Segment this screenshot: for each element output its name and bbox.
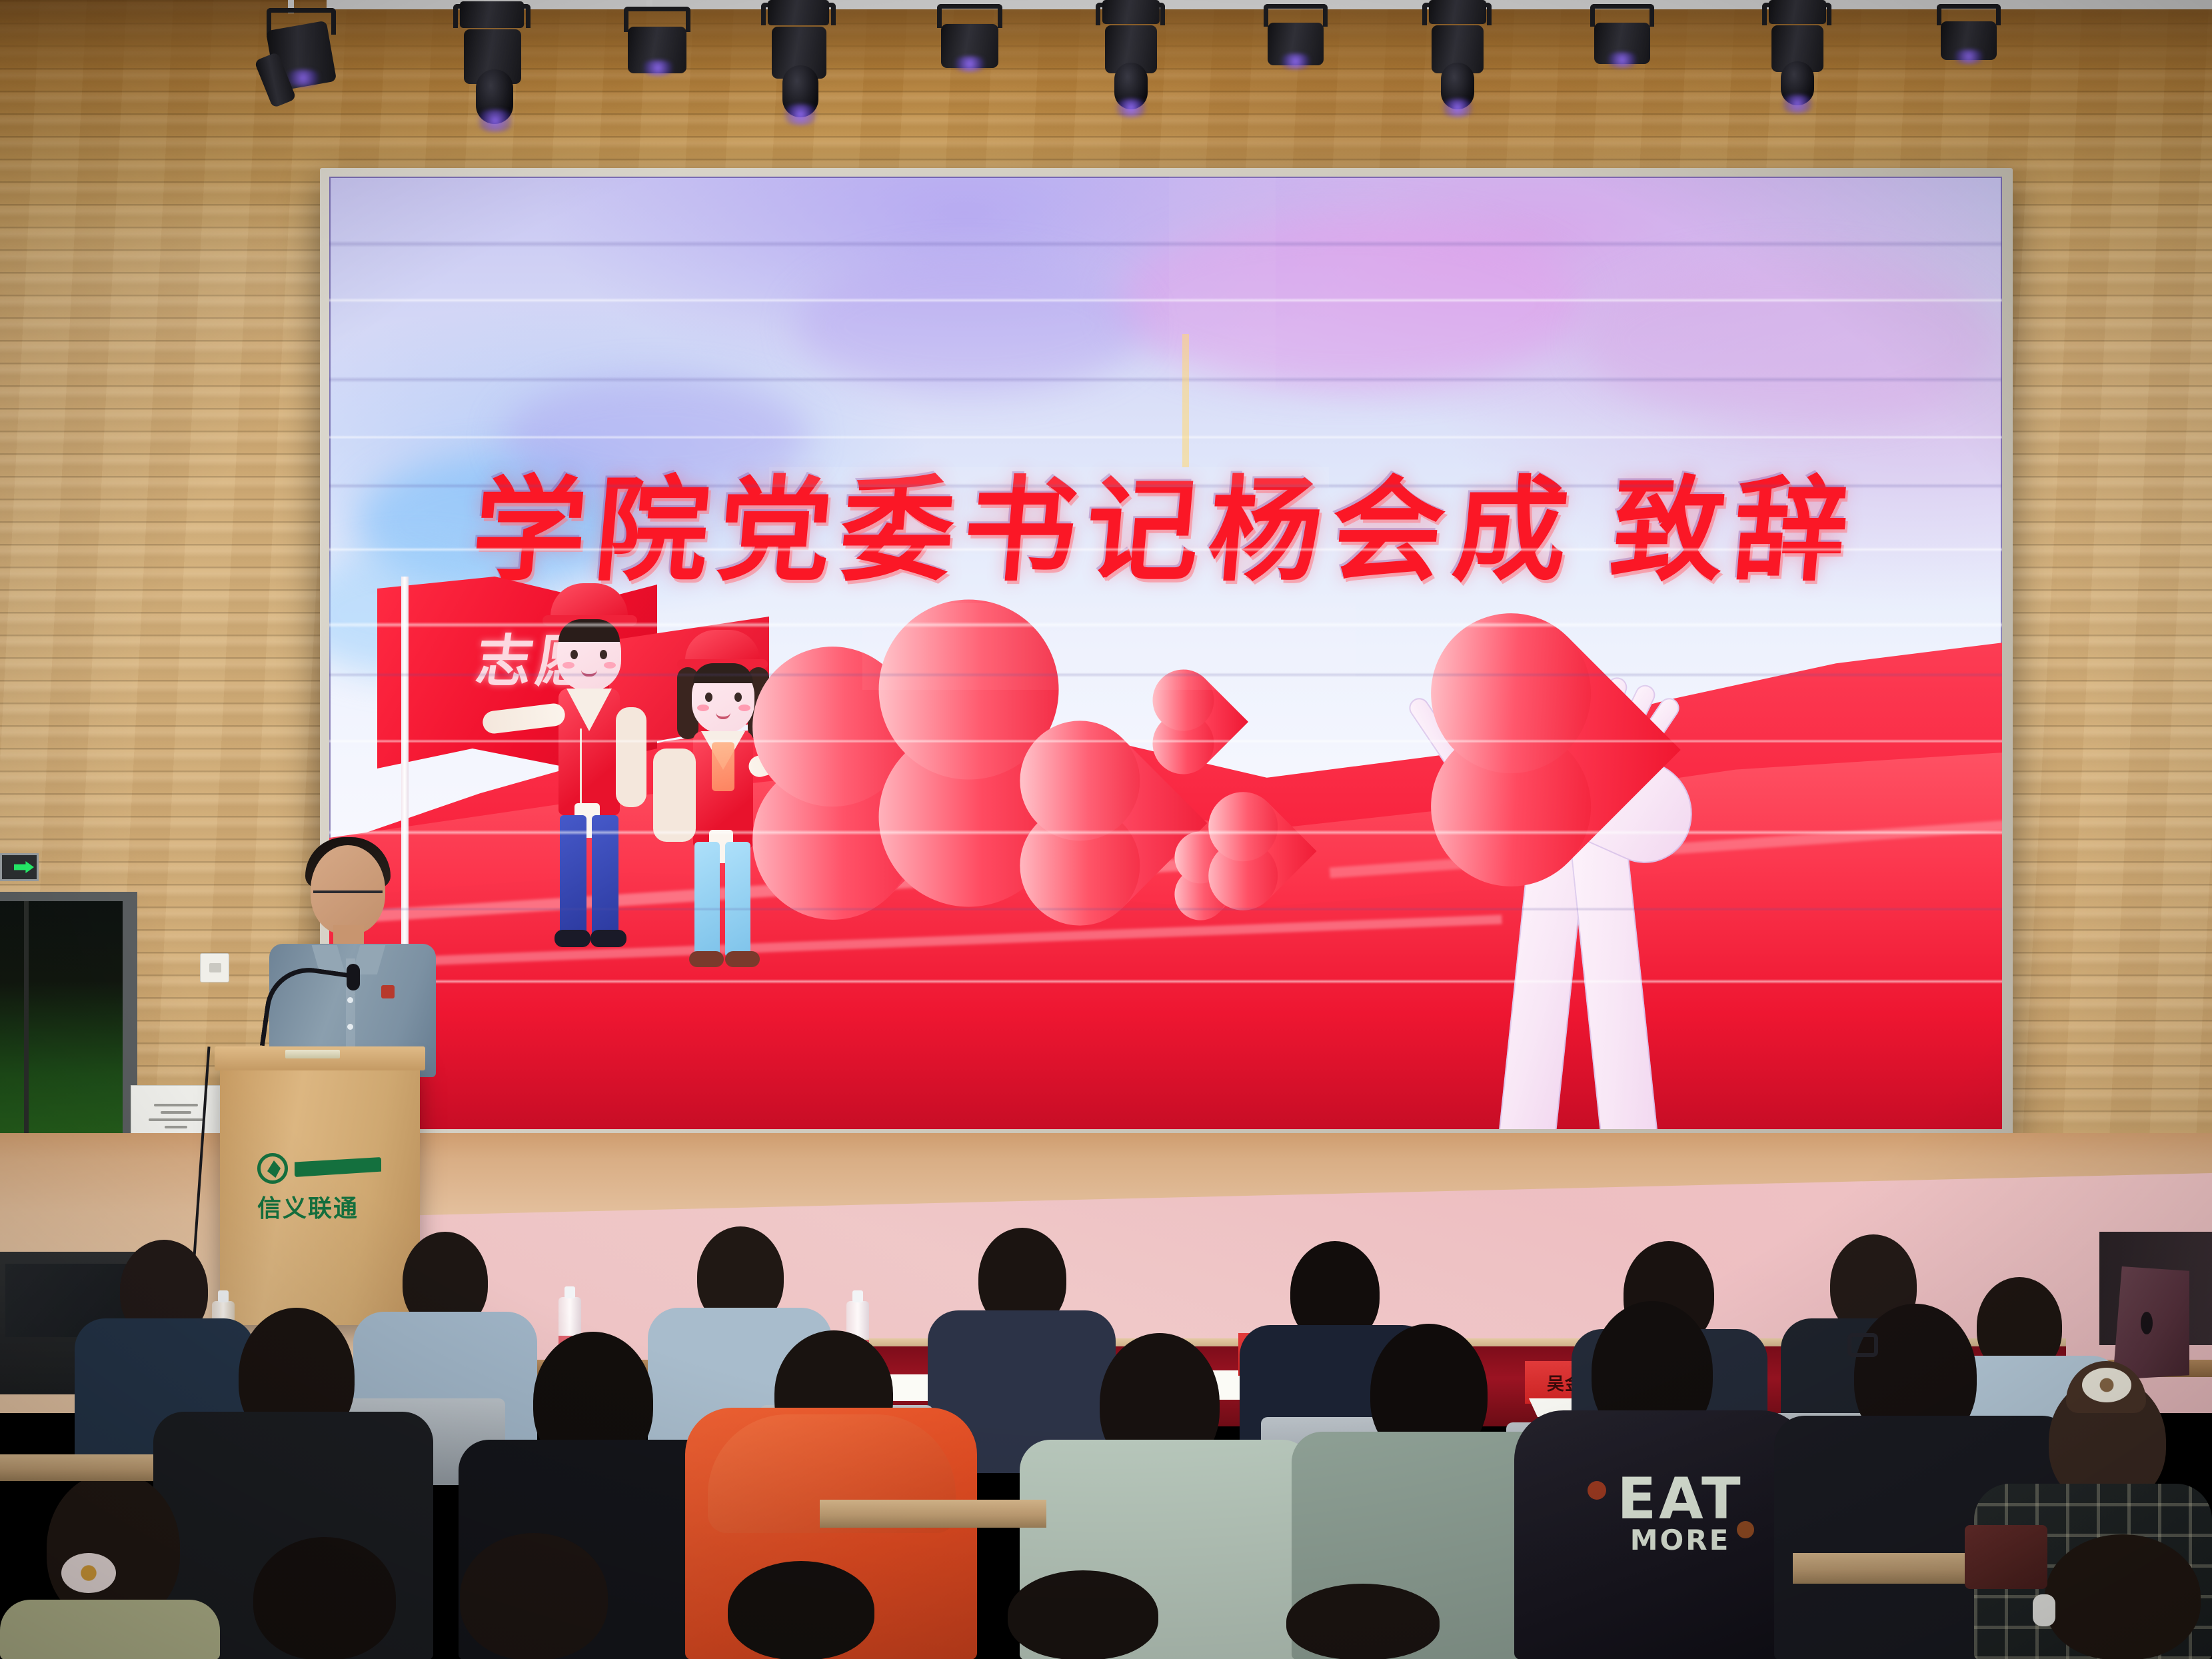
- heart-tiny-floating: [1162, 679, 1248, 765]
- cartoon-volunteer-boy: [523, 583, 656, 1036]
- party-emblem-badge: [381, 985, 395, 998]
- led-scanline: [329, 241, 2002, 247]
- scrunchie: [61, 1553, 116, 1593]
- av-speaker-port: [2141, 1312, 2153, 1334]
- podium-nameplate: [285, 1050, 340, 1058]
- hoodie-patch-left-icon: [1588, 1481, 1606, 1500]
- led-glitch-block: [1182, 334, 1189, 467]
- audience-head-front: [460, 1533, 608, 1659]
- audience-head-front: [728, 1561, 874, 1659]
- hoodie-patch-right-icon: [1737, 1521, 1754, 1538]
- eat-more-print: EAT MORE: [1584, 1469, 1777, 1557]
- auditorium-photo: 学院党委书记杨会成致辞 志愿: [0, 0, 2212, 1659]
- audience-head-front: [2045, 1534, 2201, 1659]
- speaker-glasses: [313, 890, 383, 893]
- screen-title: 学院党委书记杨会成致辞: [329, 439, 2002, 603]
- glasses: [1847, 1333, 1878, 1357]
- led-screen-display: 学院党委书记杨会成致辞 志愿: [329, 177, 2002, 1129]
- bag-on-desk: [1965, 1525, 2047, 1589]
- microphone-capsule: [347, 964, 360, 990]
- led-glitch-block: [769, 467, 1329, 487]
- cloud-blob: [796, 257, 1142, 397]
- wall-outlet[interactable]: [200, 953, 229, 982]
- hoodie-text-line1: EAT: [1617, 1472, 1743, 1527]
- podium-logo: 信义联通: [257, 1148, 384, 1218]
- earbud: [2033, 1594, 2055, 1626]
- company-mark-icon: [257, 1153, 288, 1184]
- emergency-exit-sign: [0, 853, 39, 881]
- exit-arrow-icon: [14, 861, 34, 873]
- screen-title-suffix: 致辞: [1606, 469, 1861, 595]
- company-name-cn: 信义联通: [257, 1189, 359, 1224]
- flower-scrunchie: [2082, 1368, 2131, 1402]
- audience-head-front: [253, 1537, 396, 1659]
- audience-head-front: [1008, 1570, 1158, 1659]
- speaker-head: [311, 845, 385, 934]
- desk-row: [0, 1454, 153, 1481]
- cloud-blob: [1582, 257, 1995, 423]
- audience-body-front: [0, 1600, 220, 1659]
- hoodie-text-line2: MORE: [1630, 1527, 1731, 1554]
- desk-row: [820, 1500, 1046, 1528]
- hands-holding-heart-group: [1389, 590, 1762, 1129]
- screen-title-main: 学院党委书记杨会成: [467, 469, 1582, 595]
- company-wordmark: [295, 1157, 381, 1177]
- led-screen-frame: 学院党委书记杨会成致辞 志愿: [320, 168, 2013, 1141]
- led-glitch-block: [862, 603, 1356, 690]
- audience-head-front: [1286, 1584, 1440, 1659]
